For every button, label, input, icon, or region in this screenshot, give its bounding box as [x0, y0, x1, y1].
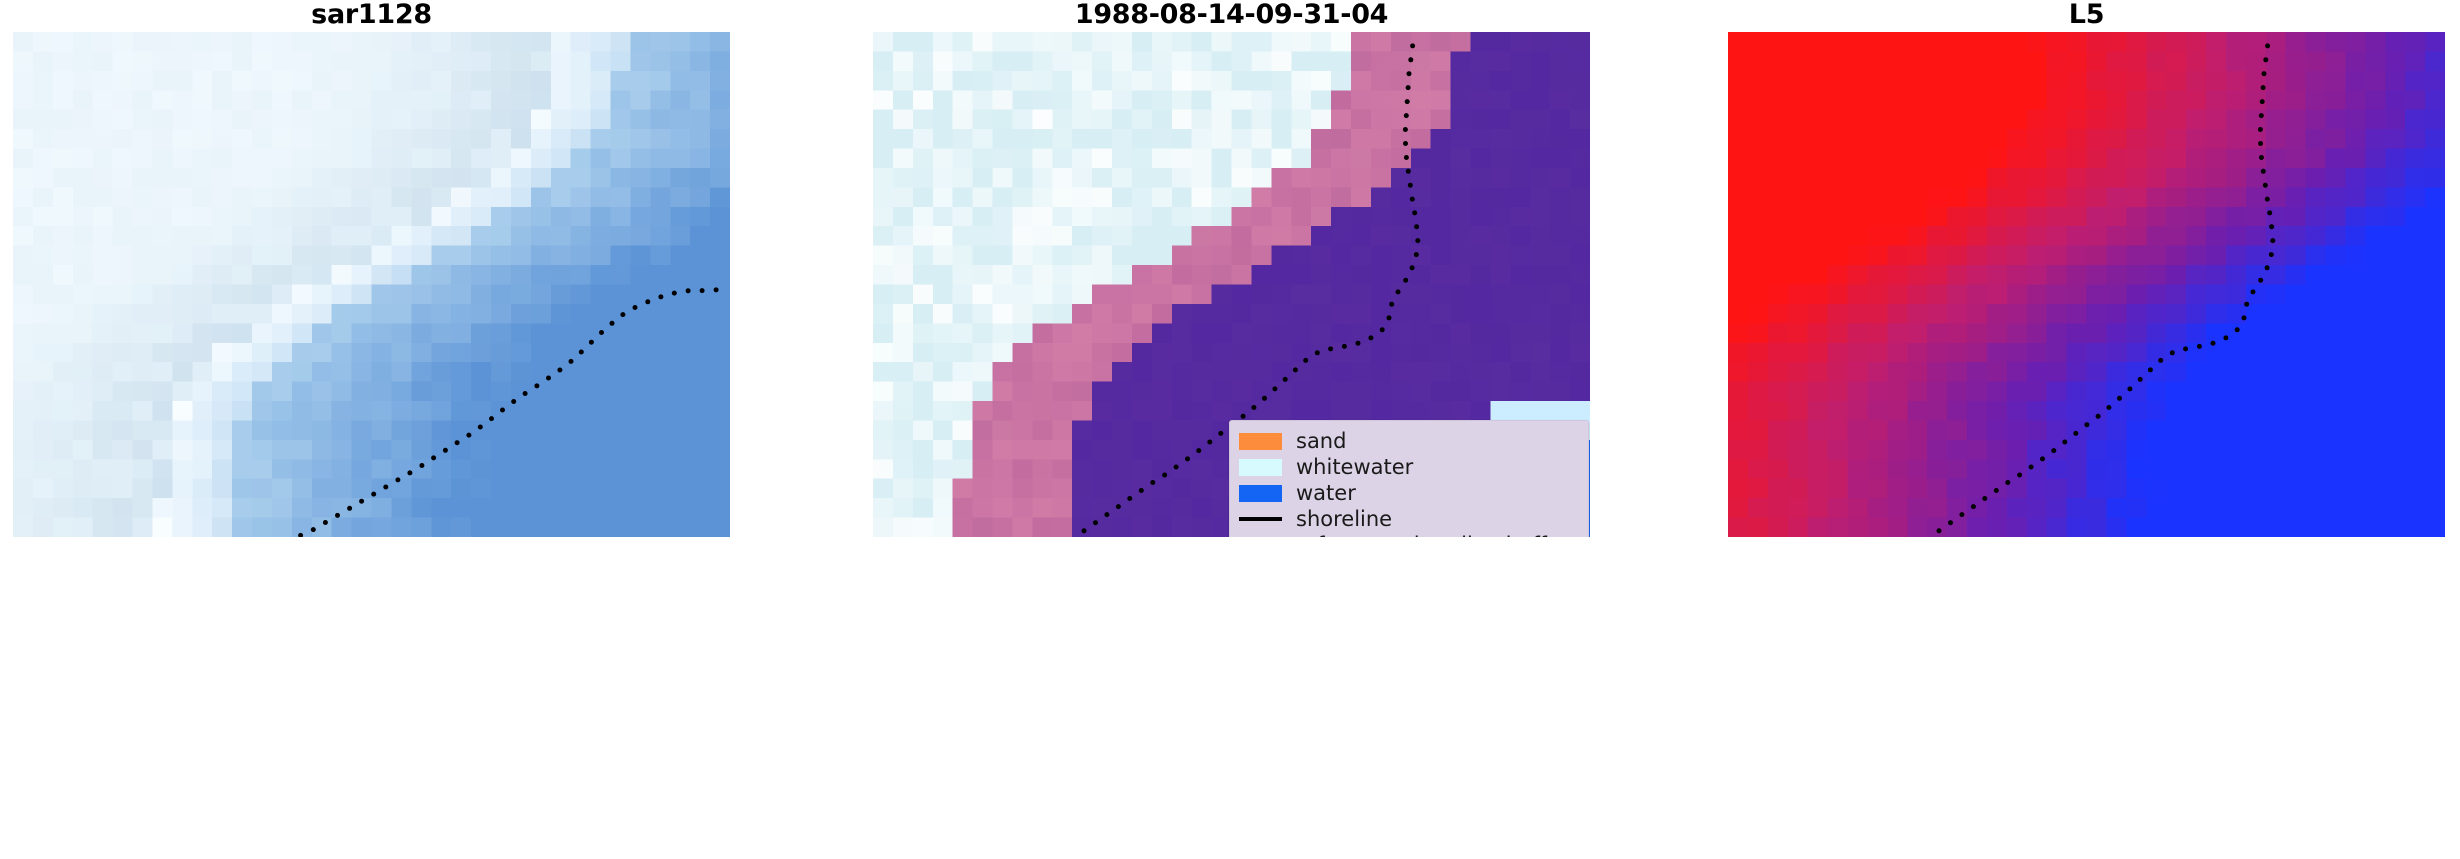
legend-label-sand: sand: [1296, 431, 1346, 452]
legend-swatch-reference-shoreline-buffer: [1239, 537, 1282, 538]
raster-sar1128: [13, 32, 730, 537]
legend-swatch-whitewater: [1239, 459, 1282, 476]
legend-swatch-sand: [1239, 433, 1282, 450]
legend-label-whitewater: whitewater: [1296, 457, 1413, 478]
axes-sar1128: [13, 32, 730, 537]
legend-item-reference-shoreline-buffer: reference shoreline buffer: [1239, 532, 1578, 537]
legend-item-sand: sand: [1239, 428, 1578, 454]
figure-root: sar1128 1988-08-14-09-31-04 sand w: [0, 0, 2460, 859]
legend-label-water: water: [1296, 483, 1356, 504]
panel-l5: L5: [1728, 0, 2445, 540]
panel-title-classified: 1988-08-14-09-31-04: [873, 0, 1590, 32]
panel-sar1128: sar1128: [13, 0, 730, 540]
raster-l5: [1728, 32, 2445, 537]
axes-classified: sand whitewater water shoreline referenc…: [873, 32, 1590, 537]
legend-label-shoreline: shoreline: [1296, 509, 1392, 530]
panel-title-l5: L5: [1728, 0, 2445, 32]
legend-swatch-water: [1239, 485, 1282, 502]
legend-swatch-shoreline: [1239, 511, 1282, 528]
axes-l5: [1728, 32, 2445, 537]
panel-title-sar1128: sar1128: [13, 0, 730, 32]
legend-item-whitewater: whitewater: [1239, 454, 1578, 480]
legend: sand whitewater water shoreline referenc…: [1229, 420, 1589, 537]
legend-label-reference-shoreline-buffer: reference shoreline buffer: [1296, 535, 1568, 538]
panel-classified: 1988-08-14-09-31-04 sand whitewater wate…: [873, 0, 1590, 540]
legend-item-water: water: [1239, 480, 1578, 506]
legend-item-shoreline: shoreline: [1239, 506, 1578, 532]
